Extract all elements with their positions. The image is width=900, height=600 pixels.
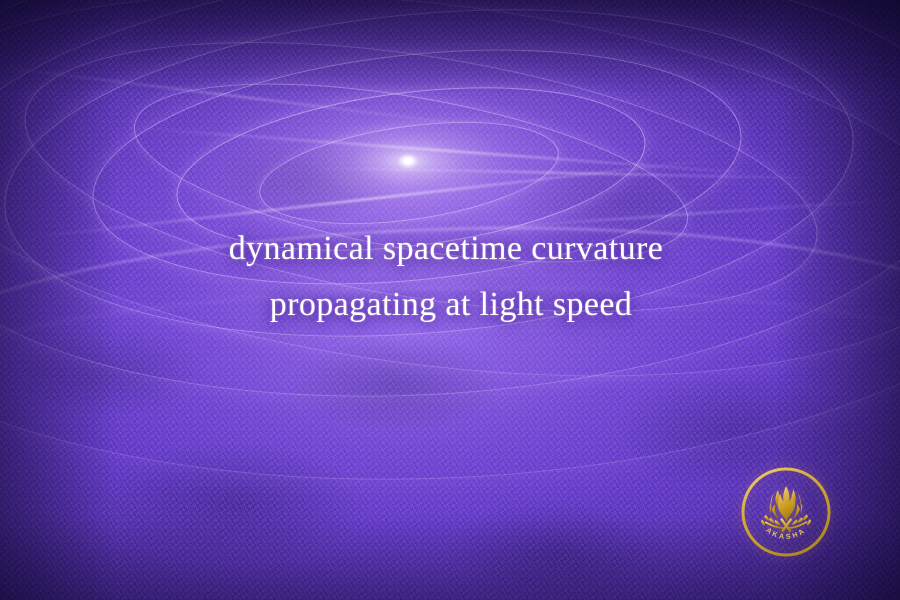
concept-card: dynamical spacetime curvature propagatin…: [0, 0, 900, 600]
brand-logo[interactable]: AKASHA: [740, 466, 832, 558]
caption-line-1: dynamical spacetime curvature: [0, 232, 900, 266]
caption-line-2: propagating at light speed: [2, 288, 900, 322]
caption-block: dynamical spacetime curvature propagatin…: [0, 232, 900, 322]
point-source-core: [397, 153, 419, 169]
flame-icon: [770, 486, 803, 521]
